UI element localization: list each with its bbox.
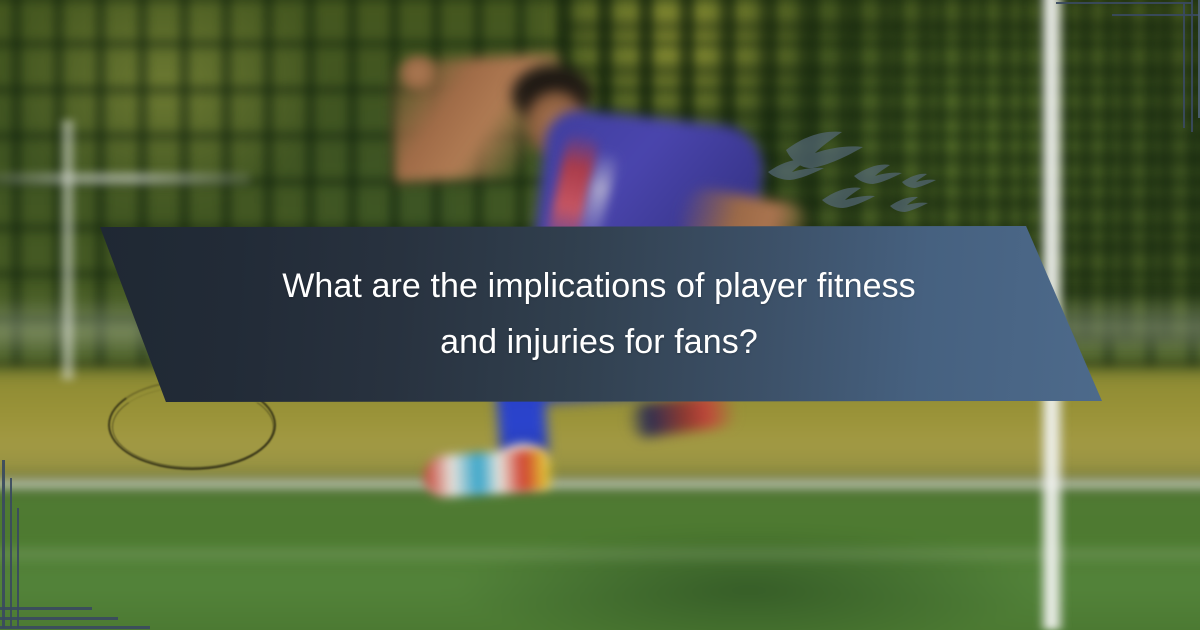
deco-line-bottom-left-4 [0,607,92,610]
goal-crossbar [0,172,250,185]
goal-post-left [60,120,76,380]
screenshot-canvas: What are the implications of player fitn… [0,0,1200,630]
deco-line-top-right-1 [1056,2,1192,4]
deco-line-bottom-left-2 [10,478,12,628]
deco-line-top-right-4 [1191,0,1193,132]
deco-line-bottom-left-1 [2,460,5,628]
player-fist [396,52,440,94]
deco-line-bottom-left-6 [0,626,150,629]
deco-line-bottom-left-3 [17,508,19,628]
pitch-marking-line [0,548,1200,560]
deco-line-bottom-left-5 [0,617,118,620]
bird-silhouettes-icon [762,128,962,238]
deco-line-top-right-2 [1112,14,1200,16]
green-pitch [0,490,1200,630]
banner-shape [96,226,1102,402]
deco-line-top-right-3 [1183,2,1185,128]
